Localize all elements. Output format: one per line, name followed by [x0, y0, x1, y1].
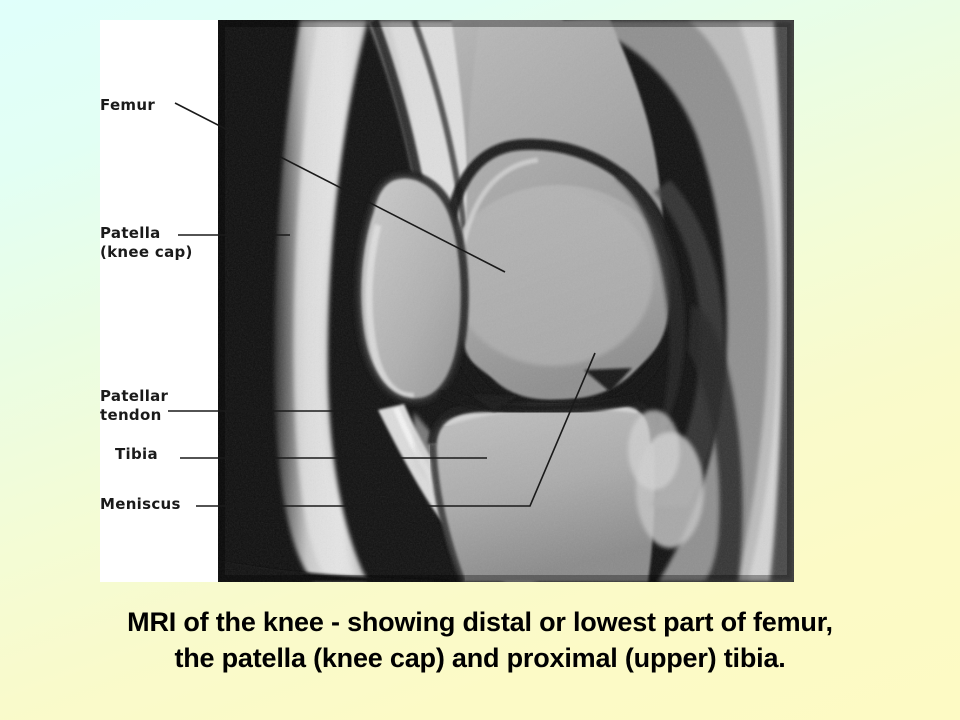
slide-canvas: Femur Patella (knee cap) Patellar tendon…: [0, 0, 960, 720]
figure-panel: [100, 20, 794, 582]
caption-line-1: MRI of the knee - showing distal or lowe…: [0, 604, 960, 640]
annotation-label-patella: Patella (knee cap): [100, 224, 193, 262]
annotation-label-tibia: Tibia: [115, 445, 158, 464]
annotation-label-patellar-tendon: Patellar tendon: [100, 387, 168, 425]
annotation-label-meniscus: Meniscus: [100, 495, 181, 514]
slide-caption: MRI of the knee - showing distal or lowe…: [0, 604, 960, 676]
mri-scan-image: [218, 20, 794, 582]
annotation-label-femur: Femur: [100, 96, 155, 115]
caption-line-2: the patella (knee cap) and proximal (upp…: [0, 640, 960, 676]
